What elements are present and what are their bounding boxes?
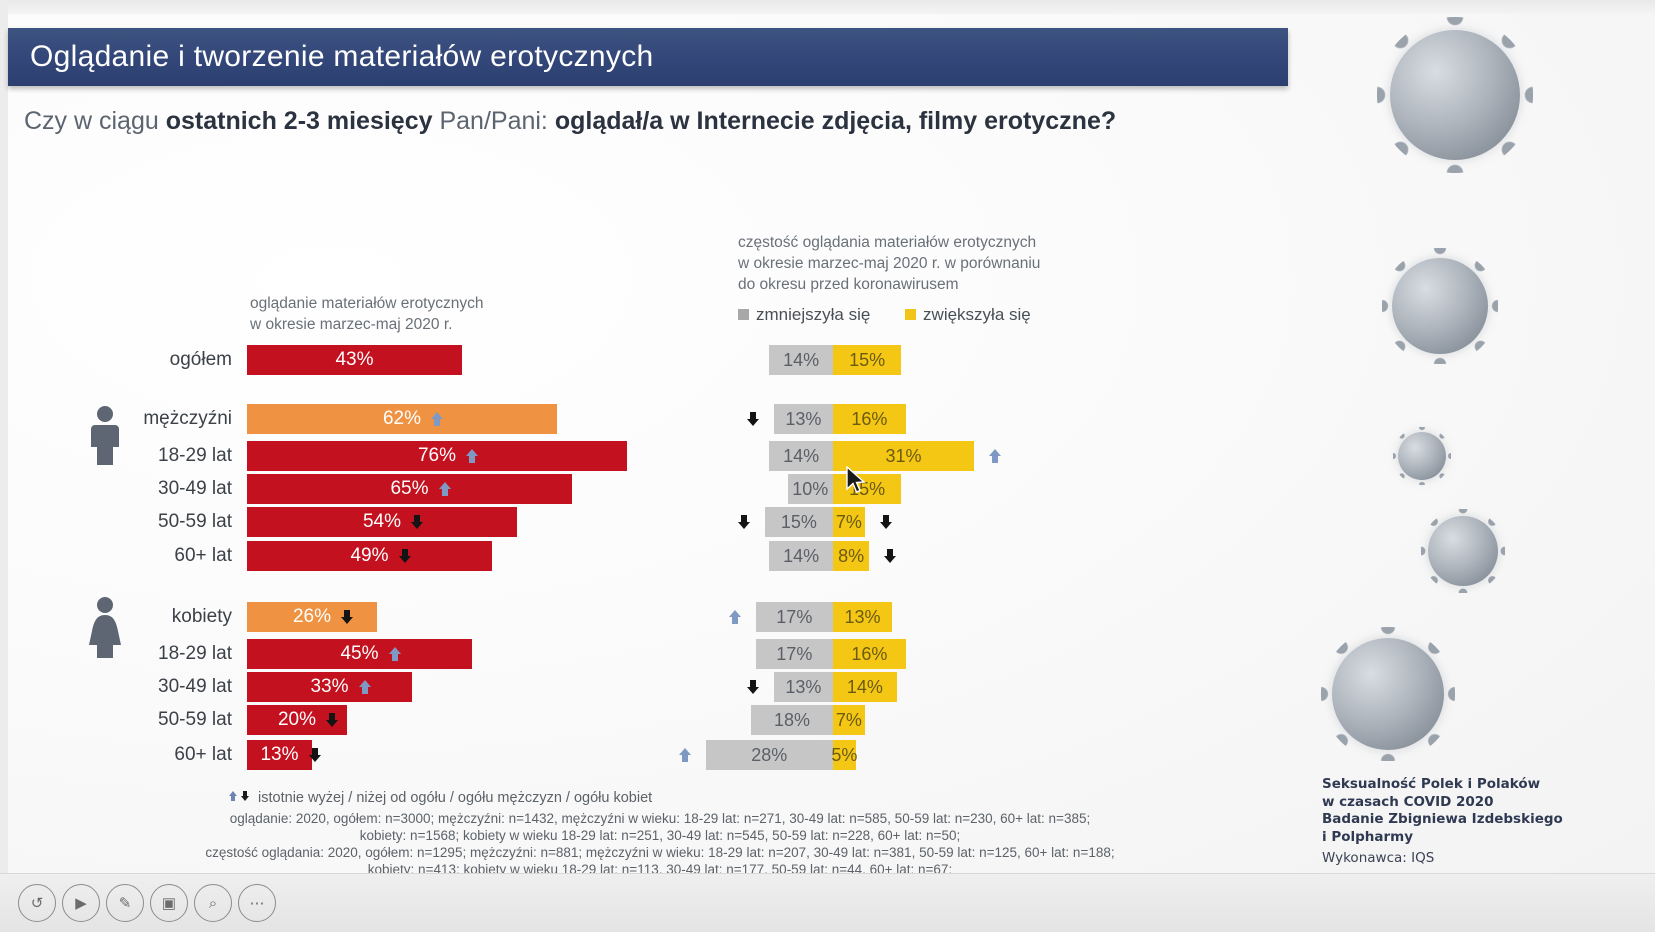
play-icon: ▶ — [75, 894, 87, 912]
more-button[interactable]: ⋯ — [238, 884, 276, 922]
legend: zmniejszyła się zwiększyła się — [738, 305, 1061, 325]
segment-decrease: 18% — [751, 705, 833, 735]
study-credit: Seksualność Polek i Polaków w czasach CO… — [1322, 776, 1582, 868]
left-bar-value: 49% — [350, 545, 388, 567]
segment-increase-value: 15% — [849, 350, 885, 371]
rewind-button[interactable]: ↺ — [18, 884, 56, 922]
credit-line-4: i Polpharmy — [1322, 829, 1582, 847]
slide-canvas: Oglądanie i tworzenie materiałów erotycz… — [0, 0, 1655, 932]
left-row-label: 50-59 lat — [0, 507, 232, 537]
camera-button[interactable]: ▣ — [150, 884, 188, 922]
question-bold-1: ostatnich 2-3 miesięcy — [166, 107, 433, 135]
left-row-label: mężczyźni — [0, 404, 232, 434]
left-row-label: kobiety — [0, 602, 232, 632]
more-icon: ⋯ — [250, 894, 265, 912]
significance-down-icon — [308, 747, 322, 763]
sample-size-footnotes: oglądanie: 2020, ogółem: n=3000; mężczyź… — [0, 810, 1320, 878]
left-row-label: 50-59 lat — [0, 705, 232, 735]
segment-increase-value: 31% — [885, 446, 921, 467]
significance-up-icon — [388, 646, 402, 662]
left-bar-value: 62% — [383, 408, 421, 430]
right-stacked-bar: 15%7% — [765, 507, 865, 537]
magnifier-icon: ⌕ — [209, 895, 217, 912]
right-stacked-bar: 13%16% — [774, 404, 906, 434]
segment-decrease: 13% — [774, 404, 833, 434]
right-chart-header: częstość oglądania materiałów erotycznyc… — [738, 232, 1138, 295]
credit-line-2: w czasach COVID 2020 — [1322, 794, 1582, 812]
pen-icon: ✎ — [119, 894, 132, 912]
significance-down-icon — [883, 548, 897, 564]
segment-decrease-value: 18% — [774, 710, 810, 731]
footnote-line: częstość oglądania: 2020, ogółem: n=1295… — [0, 844, 1320, 861]
segment-increase: 7% — [833, 507, 865, 537]
left-bar: 76% — [247, 441, 627, 471]
footnote-line: kobiety: n=1568; kobiety w wieku 18-29 l… — [0, 827, 1320, 844]
right-stacked-bar: 18%7% — [751, 705, 865, 735]
segment-increase: 8% — [833, 541, 869, 571]
question-bold-2: oglądał/a w Internecie zdjęcia, filmy er… — [555, 107, 1116, 135]
significance-down-icon — [410, 514, 424, 530]
legend-item-increase: zwiększyła się — [905, 305, 1031, 325]
camera-icon: ▣ — [162, 894, 176, 912]
slide-title-bar: Oglądanie i tworzenie materiałów erotycz… — [8, 28, 1288, 86]
segment-decrease: 14% — [769, 541, 833, 571]
play-button[interactable]: ▶ — [62, 884, 100, 922]
significance-down-icon — [746, 411, 760, 427]
virus-illustration-icon — [1390, 30, 1520, 160]
segment-decrease: 17% — [756, 602, 833, 632]
left-bar-value: 26% — [293, 606, 331, 628]
left-bar: 33% — [247, 672, 412, 702]
page-title: Oglądanie i tworzenie materiałów erotycz… — [30, 40, 653, 74]
segment-decrease: 15% — [765, 507, 833, 537]
rewind-icon: ↺ — [31, 894, 44, 912]
significance-up-icon — [430, 411, 444, 427]
top-edge — [0, 0, 1655, 14]
question-text: Czy w ciągu ostatnich 2-3 miesięcy Pan/P… — [24, 104, 1144, 138]
left-bar: 65% — [247, 474, 572, 504]
segment-increase: 7% — [833, 705, 865, 735]
segment-increase-value: 7% — [836, 512, 862, 533]
segment-increase-value: 13% — [845, 607, 881, 628]
significance-down-icon — [398, 548, 412, 564]
left-row-label: 30-49 lat — [0, 672, 232, 702]
segment-increase: 5% — [833, 740, 856, 770]
segment-increase: 15% — [833, 345, 901, 375]
left-bar-value: 33% — [310, 676, 348, 698]
left-row-label: ogółem — [0, 345, 232, 375]
significance-down-icon — [325, 712, 339, 728]
left-bar: 62% — [247, 404, 557, 434]
left-bar: 26% — [247, 602, 377, 632]
segment-decrease: 13% — [774, 672, 833, 702]
segment-decrease: 28% — [706, 740, 833, 770]
legend-label-increase: zwiększyła się — [923, 305, 1031, 324]
zoom-button[interactable]: ⌕ — [194, 884, 232, 922]
segment-decrease-value: 14% — [783, 546, 819, 567]
significance-down-icon — [737, 514, 751, 530]
significance-footnote-text: istotnie wyżej / niżej od ogółu / ogółu … — [258, 790, 652, 806]
segment-decrease-value: 17% — [776, 644, 812, 665]
left-bar: 45% — [247, 639, 472, 669]
right-stacked-bar: 28%5% — [706, 740, 856, 770]
significance-arrows-icon — [228, 790, 254, 806]
virus-illustration-icon — [1332, 638, 1444, 750]
right-stacked-bar: 17%13% — [756, 602, 892, 632]
segment-increase-value: 16% — [851, 409, 887, 430]
segment-decrease-value: 13% — [785, 409, 821, 430]
left-bar-value: 76% — [418, 445, 456, 467]
left-bar-value: 65% — [390, 478, 428, 500]
significance-down-icon — [746, 679, 760, 695]
segment-increase-value: 5% — [831, 745, 857, 766]
right-stacked-bar: 14%15% — [769, 345, 901, 375]
left-bar-value: 43% — [335, 349, 373, 371]
left-row-label: 18-29 lat — [0, 441, 232, 471]
left-row-label: 60+ lat — [0, 740, 232, 770]
segment-increase: 16% — [833, 404, 906, 434]
segment-decrease: 14% — [769, 345, 833, 375]
significance-down-icon — [879, 514, 893, 530]
left-bar-value: 45% — [340, 643, 378, 665]
segment-decrease-value: 14% — [783, 350, 819, 371]
pen-button[interactable]: ✎ — [106, 884, 144, 922]
credit-line-5: Wykonawca: IQS — [1322, 850, 1582, 868]
left-bar-value: 20% — [278, 709, 316, 731]
segment-decrease-value: 14% — [783, 446, 819, 467]
significance-up-icon — [728, 609, 742, 625]
left-row-label: 18-29 lat — [0, 639, 232, 669]
segment-increase: 16% — [833, 639, 906, 669]
credit-line-1: Seksualność Polek i Polaków — [1322, 776, 1582, 794]
significance-footnote: istotnie wyżej / niżej od ogółu / ogółu … — [228, 790, 652, 806]
left-row-label: 30-49 lat — [0, 474, 232, 504]
segment-increase-value: 7% — [836, 710, 862, 731]
left-bar-value: 13% — [260, 744, 298, 766]
segment-decrease: 14% — [769, 441, 833, 471]
segment-decrease-value: 17% — [776, 607, 812, 628]
significance-up-icon — [988, 448, 1002, 464]
significance-up-icon — [678, 747, 692, 763]
significance-down-icon — [340, 609, 354, 625]
left-bar-value: 54% — [363, 511, 401, 533]
left-chart-header: oglądanie materiałów erotycznych w okres… — [250, 293, 630, 335]
segment-decrease-value: 28% — [751, 745, 787, 766]
significance-up-icon — [438, 481, 452, 497]
footnote-line: oglądanie: 2020, ogółem: n=3000; mężczyź… — [0, 810, 1320, 827]
segment-increase: 14% — [833, 672, 897, 702]
significance-up-icon — [465, 448, 479, 464]
legend-swatch-increase-icon — [905, 309, 916, 320]
left-bar: 43% — [247, 345, 462, 375]
video-player-bar[interactable]: ↺ ▶ ✎ ▣ ⌕ ⋯ — [0, 873, 1655, 932]
credit-line-3: Badanie Zbigniewa Izdebskiego — [1322, 811, 1582, 829]
segment-increase-value: 16% — [851, 644, 887, 665]
virus-illustration-icon — [1398, 432, 1446, 480]
virus-illustration-icon — [1428, 516, 1498, 586]
virus-illustration-icon — [1392, 258, 1488, 354]
segment-decrease-value: 13% — [785, 677, 821, 698]
legend-label-decrease: zmniejszyła się — [756, 305, 870, 324]
segment-increase-value: 14% — [847, 677, 883, 698]
segment-decrease-value: 10% — [792, 479, 828, 500]
right-stacked-bar: 13%14% — [774, 672, 897, 702]
left-row-label: 60+ lat — [0, 541, 232, 571]
question-middle: Pan/Pani: — [433, 107, 555, 135]
right-stacked-bar: 14%31% — [769, 441, 974, 471]
segment-decrease: 10% — [788, 474, 834, 504]
left-bar: 13% — [247, 740, 312, 770]
segment-decrease-value: 15% — [781, 512, 817, 533]
legend-swatch-decrease-icon — [738, 309, 749, 320]
mouse-cursor-icon — [845, 466, 867, 496]
significance-up-icon — [358, 679, 372, 695]
left-bar: 54% — [247, 507, 517, 537]
legend-item-decrease: zmniejszyła się — [738, 305, 870, 325]
segment-increase-value: 8% — [838, 546, 864, 567]
question-prefix: Czy w ciągu — [24, 107, 166, 135]
segment-increase: 15% — [833, 474, 901, 504]
left-bar: 49% — [247, 541, 492, 571]
segment-increase: 13% — [833, 602, 892, 632]
right-stacked-bar: 17%16% — [756, 639, 906, 669]
right-stacked-bar: 14%8% — [769, 541, 869, 571]
segment-decrease: 17% — [756, 639, 833, 669]
